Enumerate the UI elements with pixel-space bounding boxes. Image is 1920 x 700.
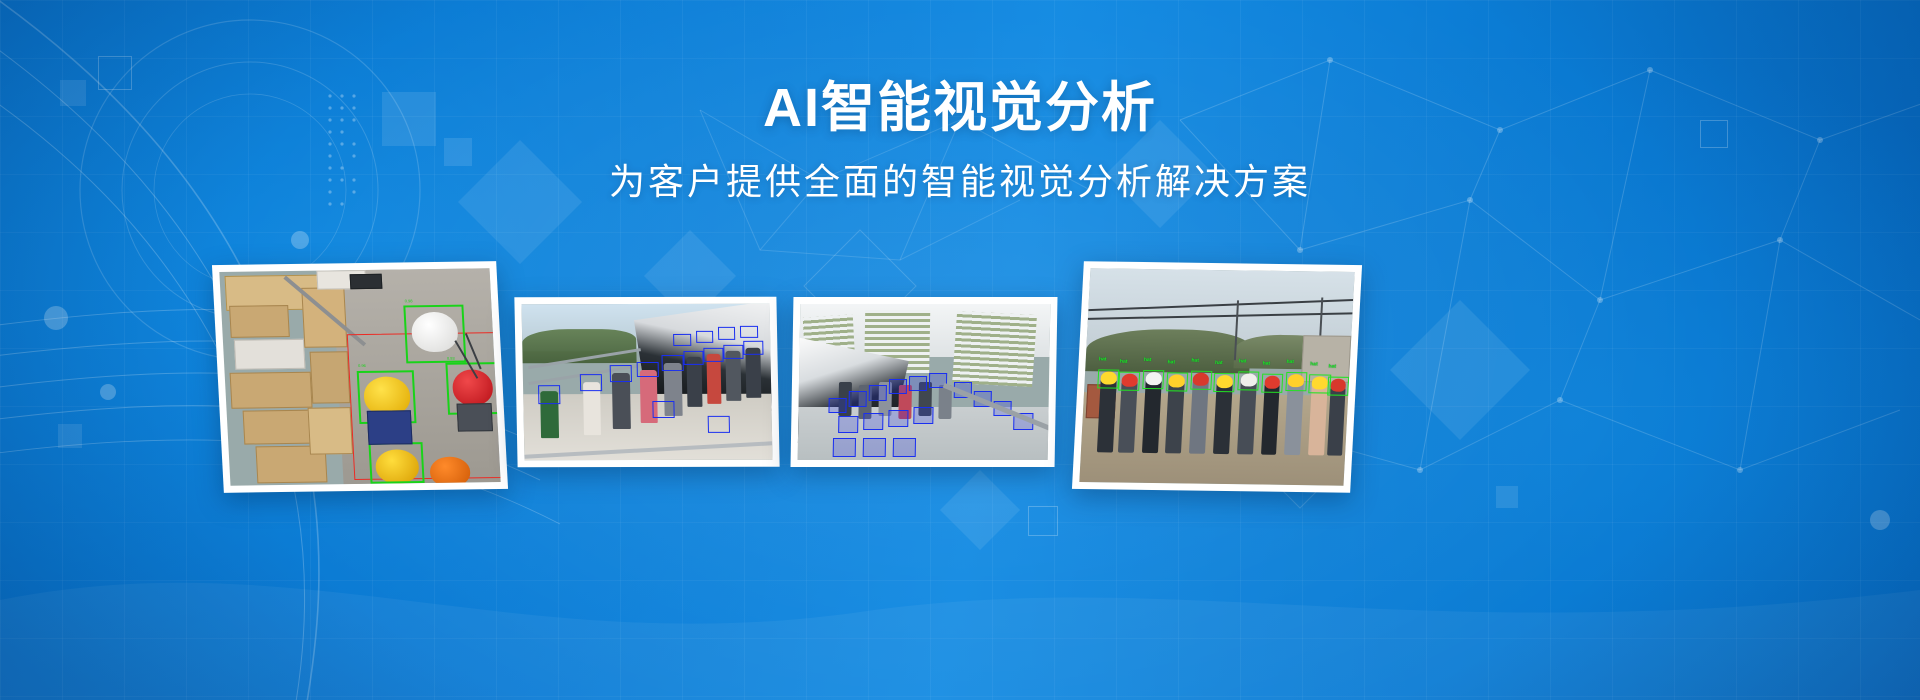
detection-box-face[interactable] bbox=[661, 355, 684, 371]
page-subtitle: 为客户提供全面的智能视觉分析解决方案 bbox=[0, 160, 1920, 203]
detection-box-head[interactable] bbox=[863, 438, 886, 457]
ai-vision-hero-banner: AI智能视觉分析 为客户提供全面的智能视觉分析解决方案 bbox=[0, 0, 1920, 700]
detection-box-head[interactable] bbox=[913, 407, 933, 424]
detection-box-face[interactable] bbox=[743, 341, 763, 355]
worker-body bbox=[367, 411, 412, 446]
detection-label-hat: hat bbox=[1167, 359, 1175, 365]
carton-box bbox=[310, 351, 351, 403]
detection-label-confidence: 0.98 bbox=[405, 298, 413, 303]
detection-box-face[interactable] bbox=[740, 326, 758, 338]
detection-box-hat[interactable] bbox=[1285, 372, 1307, 392]
detection-box-hat[interactable] bbox=[1327, 376, 1349, 396]
detection-box-head[interactable] bbox=[909, 376, 927, 392]
detection-box-helmet-yellow-2[interactable] bbox=[369, 442, 425, 483]
carton-box bbox=[229, 305, 290, 338]
detection-label-hat: hat bbox=[1215, 360, 1223, 366]
detection-box-face[interactable] bbox=[703, 348, 723, 362]
photo-warehouse-helmet-detection: 0.98 0.96 0.93 0.90 bbox=[219, 268, 500, 485]
gallery-card-escalator-crowd-detection[interactable] bbox=[790, 297, 1057, 467]
detection-box-hat[interactable] bbox=[1261, 373, 1283, 393]
hero-text-block: AI智能视觉分析 为客户提供全面的智能视觉分析解决方案 bbox=[0, 78, 1920, 204]
carton-box bbox=[234, 339, 306, 370]
carton-box bbox=[230, 371, 313, 408]
detection-box-head[interactable] bbox=[869, 385, 887, 401]
helmet-orange bbox=[429, 457, 471, 486]
detection-label-confidence: 0.93 bbox=[447, 355, 455, 360]
detection-box-face[interactable] bbox=[652, 401, 675, 418]
detection-box-hat[interactable] bbox=[1166, 372, 1188, 392]
detection-box-helmet-white[interactable] bbox=[404, 305, 466, 364]
detection-sample-gallery: 0.98 0.96 0.93 0.90 bbox=[0, 255, 1920, 525]
detection-box-hat[interactable] bbox=[1190, 370, 1212, 390]
detection-label-hat: hat bbox=[1120, 359, 1128, 365]
detection-box-hat[interactable] bbox=[1142, 370, 1164, 390]
detection-label-hat: hat bbox=[1099, 356, 1107, 362]
detection-box-head[interactable] bbox=[888, 410, 908, 427]
photo-outdoor-hat-detection: hat hat hat hat hat bbox=[1079, 268, 1354, 485]
detection-box-head[interactable] bbox=[849, 391, 867, 407]
detection-box-head[interactable] bbox=[889, 379, 907, 395]
page-title: AI智能视觉分析 bbox=[0, 78, 1920, 138]
detection-label-hat: hat bbox=[1239, 358, 1247, 364]
detection-label-hat: hat bbox=[1310, 361, 1318, 367]
detection-box-hat[interactable] bbox=[1097, 369, 1119, 389]
photo-escalator-crowd-detection bbox=[798, 304, 1051, 460]
gallery-card-outdoor-hat-detection[interactable]: hat hat hat hat hat bbox=[1072, 261, 1362, 493]
detection-box-hat[interactable] bbox=[1237, 371, 1259, 391]
detection-box-face[interactable] bbox=[673, 334, 691, 346]
detection-label-hat: hat bbox=[1262, 361, 1270, 367]
photo-bridge-crowd-face-detection bbox=[521, 304, 772, 460]
detection-box-hat[interactable] bbox=[1118, 371, 1140, 391]
detection-box-head[interactable] bbox=[833, 438, 856, 457]
detection-box-head[interactable] bbox=[838, 416, 858, 433]
detection-box-head[interactable] bbox=[863, 413, 883, 430]
detection-box-hat[interactable] bbox=[1214, 373, 1236, 393]
louver-panel-right bbox=[952, 311, 1037, 387]
detection-box-face[interactable] bbox=[637, 362, 660, 378]
detection-label-hat: hat bbox=[1328, 364, 1336, 370]
detection-label-confidence: 0.96 bbox=[358, 363, 366, 368]
dark-object bbox=[349, 274, 382, 289]
carton-box bbox=[308, 407, 354, 455]
detection-box-face[interactable] bbox=[707, 416, 730, 433]
detection-box-face[interactable] bbox=[723, 344, 743, 358]
gallery-card-bridge-crowd-detection[interactable] bbox=[514, 297, 779, 467]
detection-box-face[interactable] bbox=[718, 327, 736, 339]
detection-box-face[interactable] bbox=[538, 385, 561, 404]
detection-box-head[interactable] bbox=[828, 398, 846, 414]
detection-box-face[interactable] bbox=[609, 365, 632, 382]
worker-body bbox=[456, 403, 493, 431]
gallery-card-helmet-detection[interactable]: 0.98 0.96 0.93 0.90 bbox=[212, 261, 508, 493]
detection-box-face[interactable] bbox=[684, 351, 704, 365]
detection-box-head[interactable] bbox=[893, 438, 916, 457]
detection-label-hat: hat bbox=[1191, 357, 1199, 363]
detection-box-face[interactable] bbox=[580, 374, 603, 391]
detection-label-hat: hat bbox=[1286, 359, 1294, 365]
detection-box-face[interactable] bbox=[696, 330, 714, 342]
detection-label-hat: hat bbox=[1144, 357, 1152, 363]
hillside bbox=[1085, 328, 1251, 373]
